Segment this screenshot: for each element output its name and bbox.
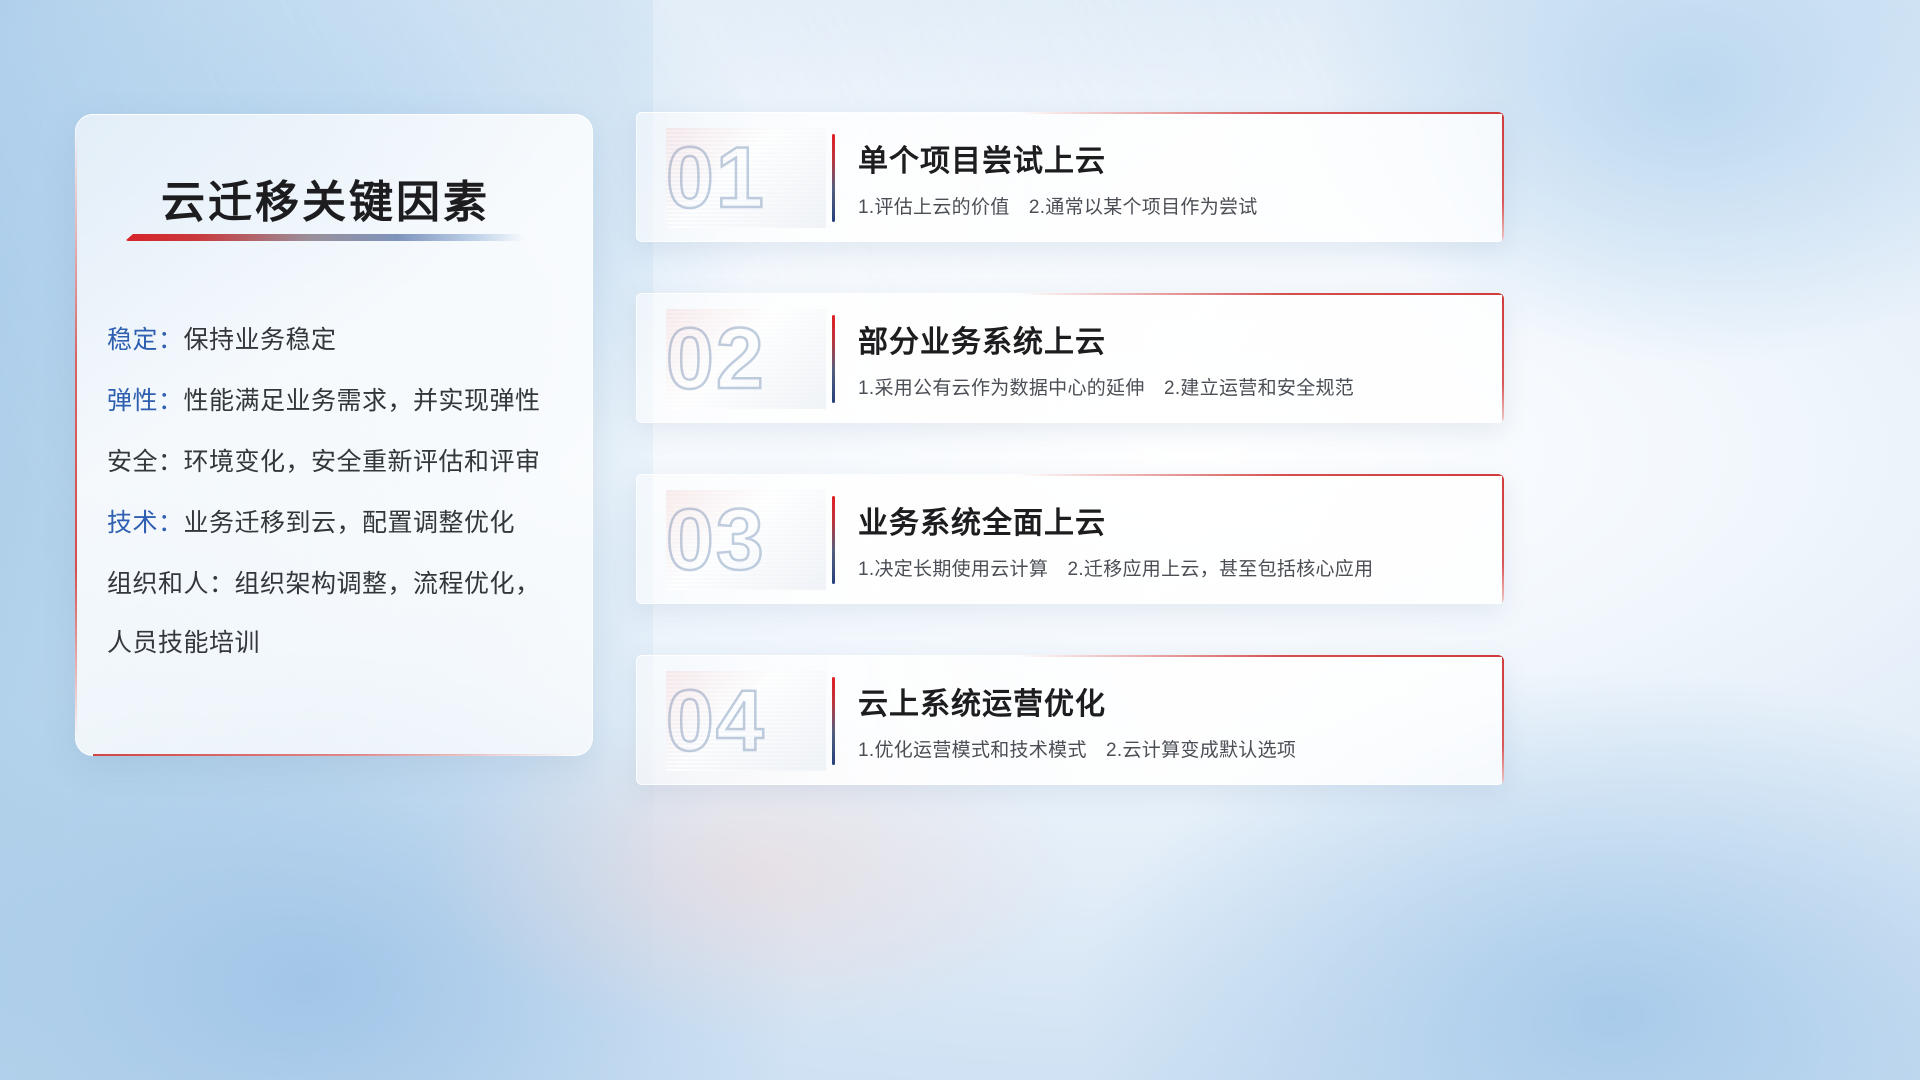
panel-bottom-red-accent: [93, 754, 575, 756]
card-accent-bar: [832, 315, 835, 403]
stage-number: 04: [666, 671, 826, 771]
card-description: 1.优化运营模式和技术模式 2.云计算变成默认选项: [858, 735, 1296, 762]
list-item-key: 稳定：: [107, 326, 184, 354]
list-item: 技术：业务迁移到云，配置调整优化: [107, 493, 567, 554]
list-item-key: 弹性：: [107, 387, 184, 415]
list-item: 稳定：保持业务稳定: [107, 310, 567, 371]
list-item-text: 组织架构调整，流程优化，: [235, 570, 541, 598]
stage-number: 01: [666, 128, 826, 228]
key-factors-list: 稳定：保持业务稳定 弹性：性能满足业务需求，并实现弹性 安全：环境变化，安全重新…: [107, 310, 567, 674]
card-description: 1.决定长期使用云计算 2.迁移应用上云，甚至包括核心应用: [858, 554, 1373, 581]
list-item-key: 安全：: [107, 448, 184, 476]
list-item-text: 业务迁移到云，配置调整优化: [184, 509, 516, 537]
stage-card-04[interactable]: 04 云上系统运营优化 1.优化运营模式和技术模式 2.云计算变成默认选项: [636, 655, 1504, 785]
stage-card-02[interactable]: 02 部分业务系统上云 1.采用公有云作为数据中心的延伸 2.建立运营和安全规范: [636, 293, 1504, 423]
card-title: 云上系统运营优化: [858, 679, 1106, 723]
stage-card-01[interactable]: 01 单个项目尝试上云 1.评估上云的价值 2.通常以某个项目作为尝试: [636, 112, 1504, 242]
list-item-key: 组织和人：: [107, 570, 235, 598]
card-description: 1.评估上云的价值 2.通常以某个项目作为尝试: [858, 192, 1258, 219]
stage-number: 03: [666, 490, 826, 590]
page-title: 云迁移关键因素: [161, 166, 490, 230]
slide-canvas: 云迁移关键因素 稳定：保持业务稳定 弹性：性能满足业务需求，并实现弹性 安全：环…: [0, 0, 1920, 1080]
card-top-red-accent: [1018, 474, 1504, 476]
panel-left-red-accent: [75, 130, 77, 740]
card-description: 1.采用公有云作为数据中心的延伸 2.建立运营和安全规范: [858, 373, 1354, 400]
list-item-text: 性能满足业务需求，并实现弹性: [184, 387, 541, 415]
list-item: 组织和人：组织架构调整，流程优化，: [107, 554, 567, 615]
stage-card-03[interactable]: 03 业务系统全面上云 1.决定长期使用云计算 2.迁移应用上云，甚至包括核心应…: [636, 474, 1504, 604]
card-accent-bar: [832, 677, 835, 765]
card-accent-bar: [832, 496, 835, 584]
card-top-red-accent: [1018, 112, 1504, 114]
list-item: 安全：环境变化，安全重新评估和评审: [107, 432, 567, 493]
list-item-text: 保持业务稳定: [184, 326, 337, 354]
card-right-red-accent: [1502, 474, 1504, 604]
list-item: 弹性：性能满足业务需求，并实现弹性: [107, 371, 567, 432]
stage-number: 02: [666, 309, 826, 409]
list-item-text: 人员技能培训: [107, 629, 260, 657]
card-title: 部分业务系统上云: [858, 317, 1106, 361]
card-right-red-accent: [1502, 655, 1504, 785]
card-title: 业务系统全面上云: [858, 498, 1106, 542]
card-right-red-accent: [1502, 293, 1504, 423]
card-right-red-accent: [1502, 112, 1504, 242]
key-factors-panel: 云迁移关键因素 稳定：保持业务稳定 弹性：性能满足业务需求，并实现弹性 安全：环…: [75, 114, 593, 756]
title-gradient-rule: [125, 234, 525, 241]
card-top-red-accent: [1018, 655, 1504, 657]
list-item-text: 环境变化，安全重新评估和评审: [184, 448, 541, 476]
list-item-key: 技术：: [107, 509, 184, 537]
card-accent-bar: [832, 134, 835, 222]
card-top-red-accent: [1018, 293, 1504, 295]
card-title: 单个项目尝试上云: [858, 136, 1106, 180]
list-item-continuation: 人员技能培训: [107, 613, 567, 674]
stage-cards-list: 01 单个项目尝试上云 1.评估上云的价值 2.通常以某个项目作为尝试 02 部…: [636, 112, 1504, 836]
